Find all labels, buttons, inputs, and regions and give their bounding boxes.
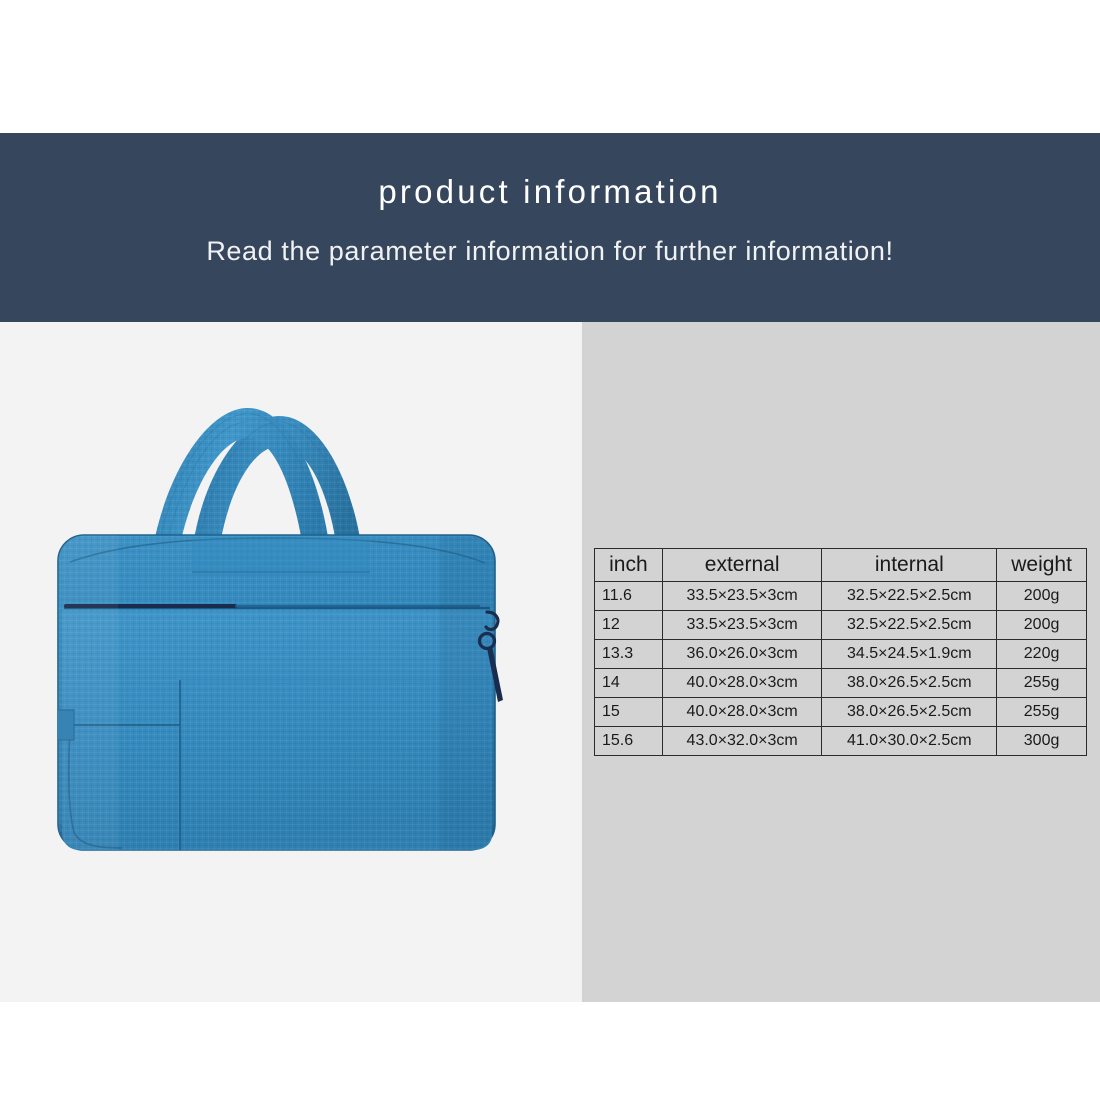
column-header-inch: inch [595, 549, 663, 582]
cell-weight: 200g [997, 582, 1087, 611]
cell-weight: 255g [997, 698, 1087, 727]
cell-internal: 32.5×22.5×2.5cm [822, 582, 997, 611]
cell-external: 40.0×28.0×3cm [662, 669, 822, 698]
table-header-row: inch external internal weight [595, 549, 1087, 582]
cell-inch: 12 [595, 611, 663, 640]
front-pocket-texture [62, 610, 492, 850]
cell-weight: 255g [997, 669, 1087, 698]
column-header-external: external [662, 549, 822, 582]
table-row: 12 33.5×23.5×3cm 32.5×22.5×2.5cm 200g [595, 611, 1087, 640]
specification-table: inch external internal weight 11.6 33.5×… [594, 548, 1087, 756]
handle-anchor-patch [192, 537, 370, 576]
cell-inch: 11.6 [595, 582, 663, 611]
cell-internal: 34.5×24.5×1.9cm [822, 640, 997, 669]
cell-weight: 220g [997, 640, 1087, 669]
cell-inch: 14 [595, 669, 663, 698]
product-information-banner: product information Read the parameter i… [0, 133, 1100, 322]
cell-external: 40.0×28.0×3cm [662, 698, 822, 727]
table-row: 15.6 43.0×32.0×3cm 41.0×30.0×2.5cm 300g [595, 727, 1087, 756]
cell-external: 33.5×23.5×3cm [662, 582, 822, 611]
column-header-internal: internal [822, 549, 997, 582]
cell-weight: 200g [997, 611, 1087, 640]
cell-external: 43.0×32.0×3cm [662, 727, 822, 756]
page-subtitle: Read the parameter information for furth… [0, 236, 1100, 267]
table-row: 15 40.0×28.0×3cm 38.0×26.5×2.5cm 255g [595, 698, 1087, 727]
laptop-bag-illustration [40, 380, 510, 860]
cell-external: 33.5×23.5×3cm [662, 611, 822, 640]
cell-inch: 15 [595, 698, 663, 727]
cell-inch: 13.3 [595, 640, 663, 669]
cell-inch: 15.6 [595, 727, 663, 756]
cell-internal: 41.0×30.0×2.5cm [822, 727, 997, 756]
cell-weight: 300g [997, 727, 1087, 756]
cell-internal: 38.0×26.5×2.5cm [822, 698, 997, 727]
front-pocket [62, 606, 492, 850]
cell-internal: 32.5×22.5×2.5cm [822, 611, 997, 640]
table-row: 13.3 36.0×26.0×3cm 34.5×24.5×1.9cm 220g [595, 640, 1087, 669]
cell-internal: 38.0×26.5×2.5cm [822, 669, 997, 698]
cell-external: 36.0×26.0×3cm [662, 640, 822, 669]
product-photo [40, 380, 510, 860]
table-row: 11.6 33.5×23.5×3cm 32.5×22.5×2.5cm 200g [595, 582, 1087, 611]
column-header-weight: weight [997, 549, 1087, 582]
table-row: 14 40.0×28.0×3cm 38.0×26.5×2.5cm 255g [595, 669, 1087, 698]
page-title: product information [0, 173, 1100, 211]
